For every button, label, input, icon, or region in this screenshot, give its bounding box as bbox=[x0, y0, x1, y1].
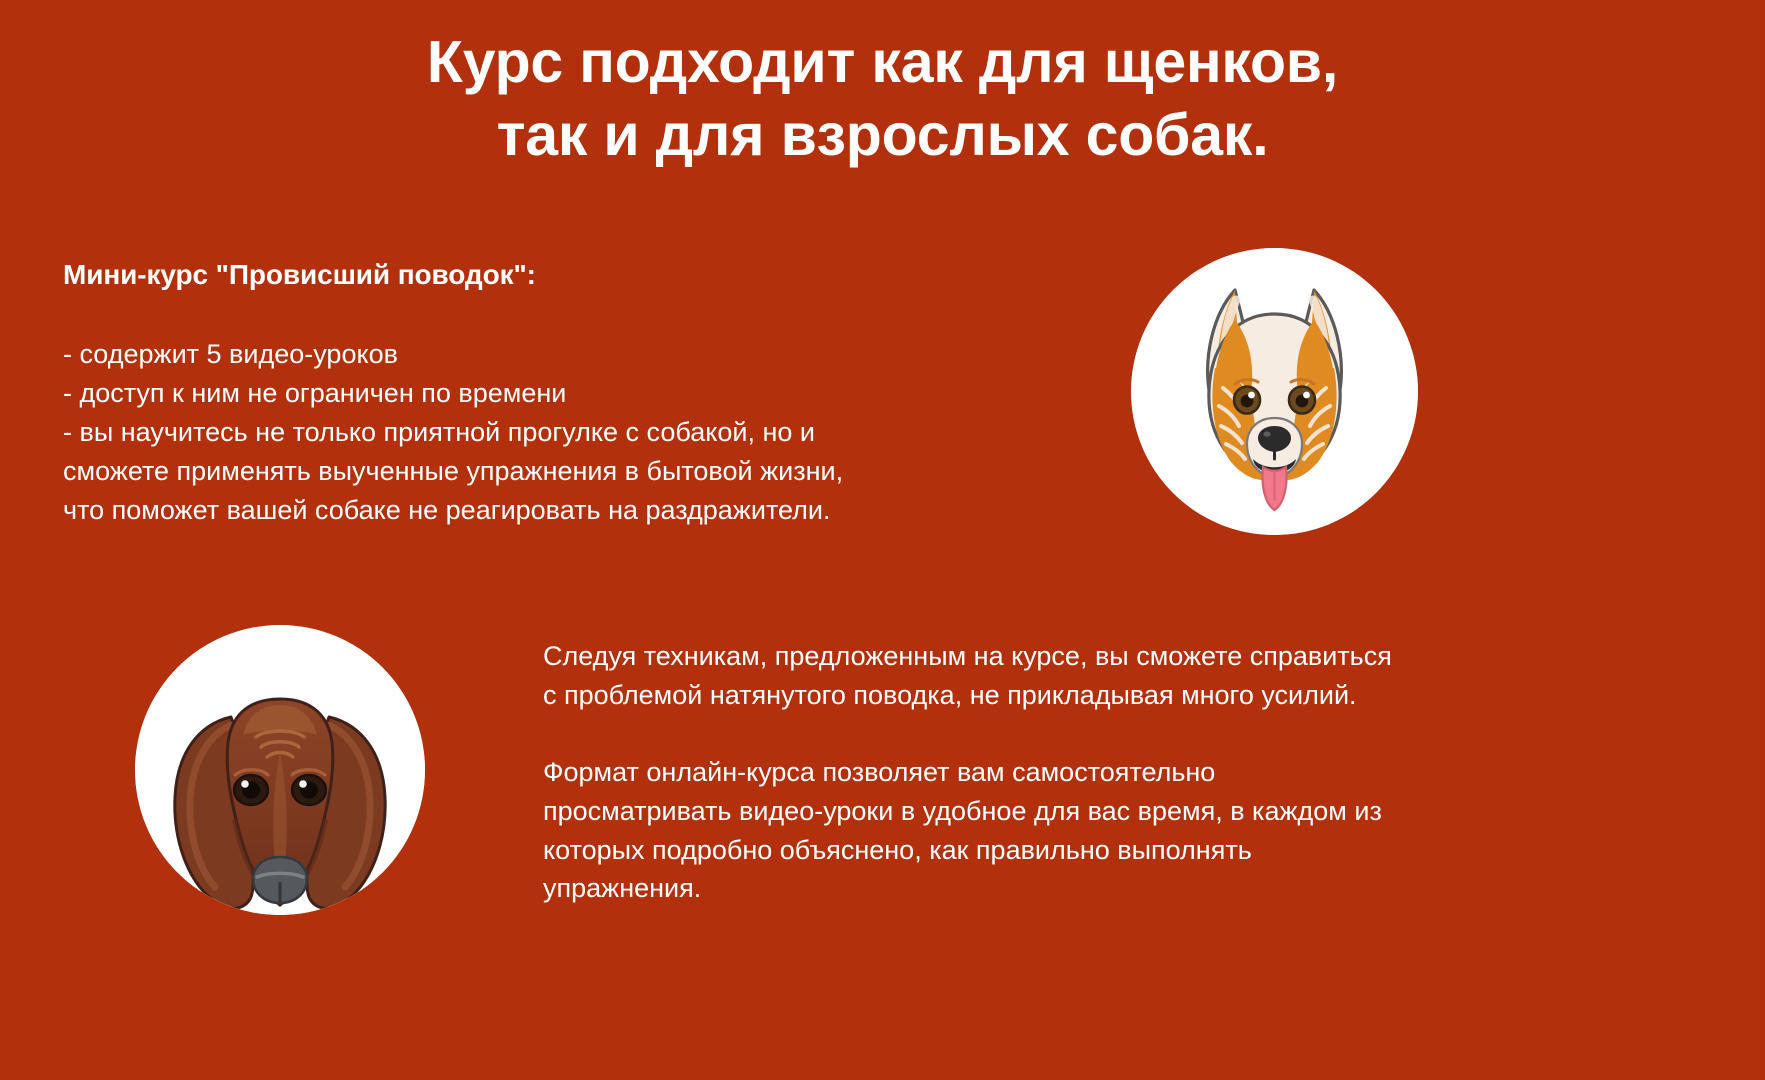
mini-course-subhead: Мини-курс "Провисший поводок": bbox=[63, 257, 1063, 293]
slide-root: Курс подходит как для щенков, так и для … bbox=[0, 0, 1765, 1080]
page-title-line-2: так и для взрослых собак. bbox=[0, 99, 1765, 172]
mini-course-description-block: Мини-курс "Провисший поводок": - содержи… bbox=[63, 257, 1063, 530]
corgi-medallion bbox=[1131, 248, 1418, 535]
benefits-paragraph-2: Формат онлайн-курса позволяет вам самост… bbox=[543, 753, 1728, 909]
corgi-dog-icon bbox=[1131, 248, 1418, 535]
page-title: Курс подходит как для щенков, так и для … bbox=[0, 26, 1765, 172]
dachshund-dog-icon bbox=[135, 625, 425, 915]
dachshund-medallion bbox=[135, 625, 425, 915]
benefits-paragraph-1: Следуя техникам, предложенным на курсе, … bbox=[543, 637, 1728, 715]
list-item: - вы научитесь не только приятной прогул… bbox=[63, 413, 1063, 530]
mini-course-feature-list: - содержит 5 видео-уроков - доступ к ним… bbox=[63, 335, 1063, 529]
list-item: - содержит 5 видео-уроков bbox=[63, 335, 1063, 374]
list-item: - доступ к ним не ограничен по времени bbox=[63, 374, 1063, 413]
page-title-line-1: Курс подходит как для щенков, bbox=[0, 26, 1765, 99]
course-benefits-block: Следуя техникам, предложенным на курсе, … bbox=[543, 637, 1728, 908]
